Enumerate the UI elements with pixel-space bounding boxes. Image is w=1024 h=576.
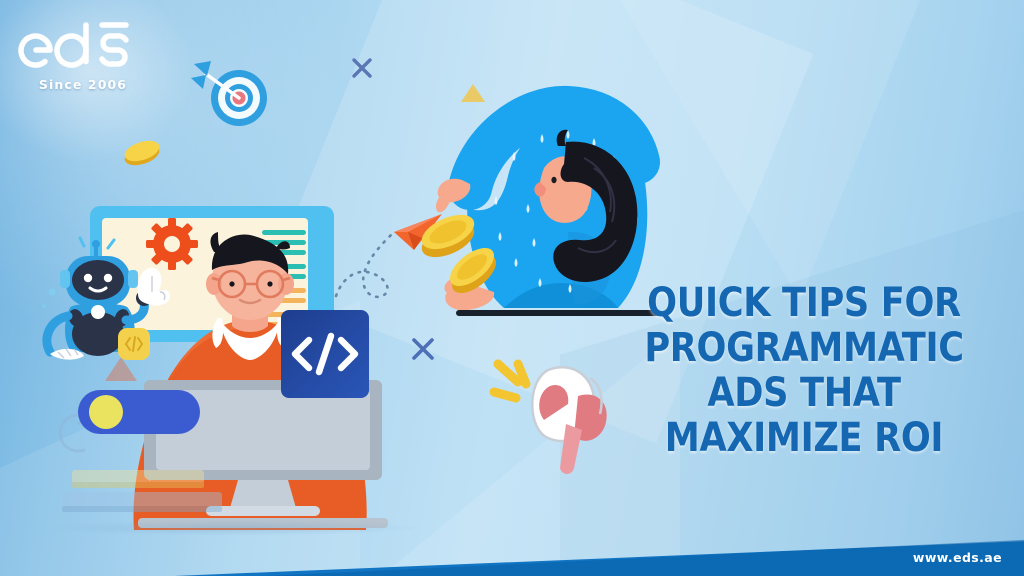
gold-coin-icon (122, 135, 162, 169)
promotional-banner: Since 2006 (0, 0, 1024, 576)
code-badge-icon (279, 308, 371, 400)
toggle-switch-icon[interactable] (76, 388, 202, 436)
headline-line-3: ADS THAT (640, 371, 967, 416)
dartboard-with-dart-icon (190, 58, 274, 132)
x-mark-icon (350, 56, 374, 80)
page-title: QUICK TIPS FOR PROGRAMMATIC ADS THAT MAX… (640, 281, 967, 461)
ground-shadow (44, 520, 424, 536)
brand-logo[interactable]: Since 2006 (18, 20, 148, 92)
headline-line-2: PROGRAMMATIC (640, 326, 967, 371)
headline-line-4: MAXIMIZE ROI (640, 416, 967, 461)
headline-line-1: QUICK TIPS FOR (640, 281, 967, 326)
logo-tagline: Since 2006 (18, 77, 148, 92)
x-mark-icon (410, 336, 436, 362)
eds-logo-icon (18, 20, 136, 76)
book-stack-icon (62, 458, 232, 528)
megaphone-icon (478, 342, 628, 482)
website-url[interactable]: www.eds.ae (913, 550, 1002, 565)
